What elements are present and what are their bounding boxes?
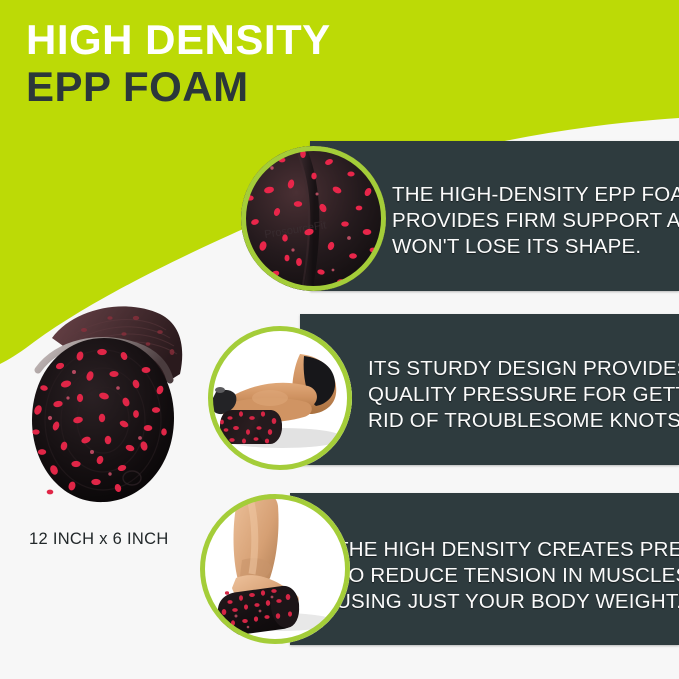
product-size-label: 12 INCH x 6 INCH — [29, 530, 169, 549]
feature-3-line-3: USING JUST YOUR BODY WEIGHT. — [336, 589, 679, 615]
feature-3-line-1: THE HIGH DENSITY CREATES PRESSURE — [336, 537, 679, 563]
feature-1-line-3: WON'T LOSE ITS SHAPE. — [392, 234, 679, 260]
feature-2-photo — [208, 326, 352, 470]
feature-1-text: THE HIGH-DENSITY EPP FOAM PROVIDES FIRM … — [392, 182, 679, 260]
feature-3-line-2: TO REDUCE TENSION IN MUSCLES — [336, 563, 679, 589]
feature-2-text: ITS STURDY DESIGN PROVIDES QUALITY PRESS… — [368, 356, 679, 434]
header-title-block: HIGH DENSITY EPP FOAM — [26, 18, 331, 110]
page-title-line-1: HIGH DENSITY — [26, 18, 331, 62]
foam-roller-product-image — [14, 292, 194, 517]
feature-panel-2: ITS STURDY DESIGN PROVIDES QUALITY PRESS… — [300, 314, 679, 465]
feature-1-line-1: THE HIGH-DENSITY EPP FOAM — [392, 182, 679, 208]
feature-3-photo — [200, 494, 350, 644]
foam-texture-closeup-photo: ProsourceFit — [241, 146, 386, 291]
legs-on-roller-photo — [208, 326, 352, 470]
feature-2-line-3: RID OF TROUBLESOME KNOTS. — [368, 408, 679, 434]
foot-on-roller-photo — [200, 494, 350, 644]
feature-3-text: THE HIGH DENSITY CREATES PRESSURE TO RED… — [336, 537, 679, 615]
page-title-line-2: EPP FOAM — [26, 64, 331, 110]
feature-2-line-2: QUALITY PRESSURE FOR GETTING — [368, 382, 679, 408]
feature-1-line-2: PROVIDES FIRM SUPPORT AND — [392, 208, 679, 234]
feature-2-line-1: ITS STURDY DESIGN PROVIDES — [368, 356, 679, 382]
product-infographic: HIGH DENSITY EPP FOAM THE HIGH-DENSITY E… — [0, 0, 679, 679]
feature-1-photo: ProsourceFit — [241, 146, 386, 291]
